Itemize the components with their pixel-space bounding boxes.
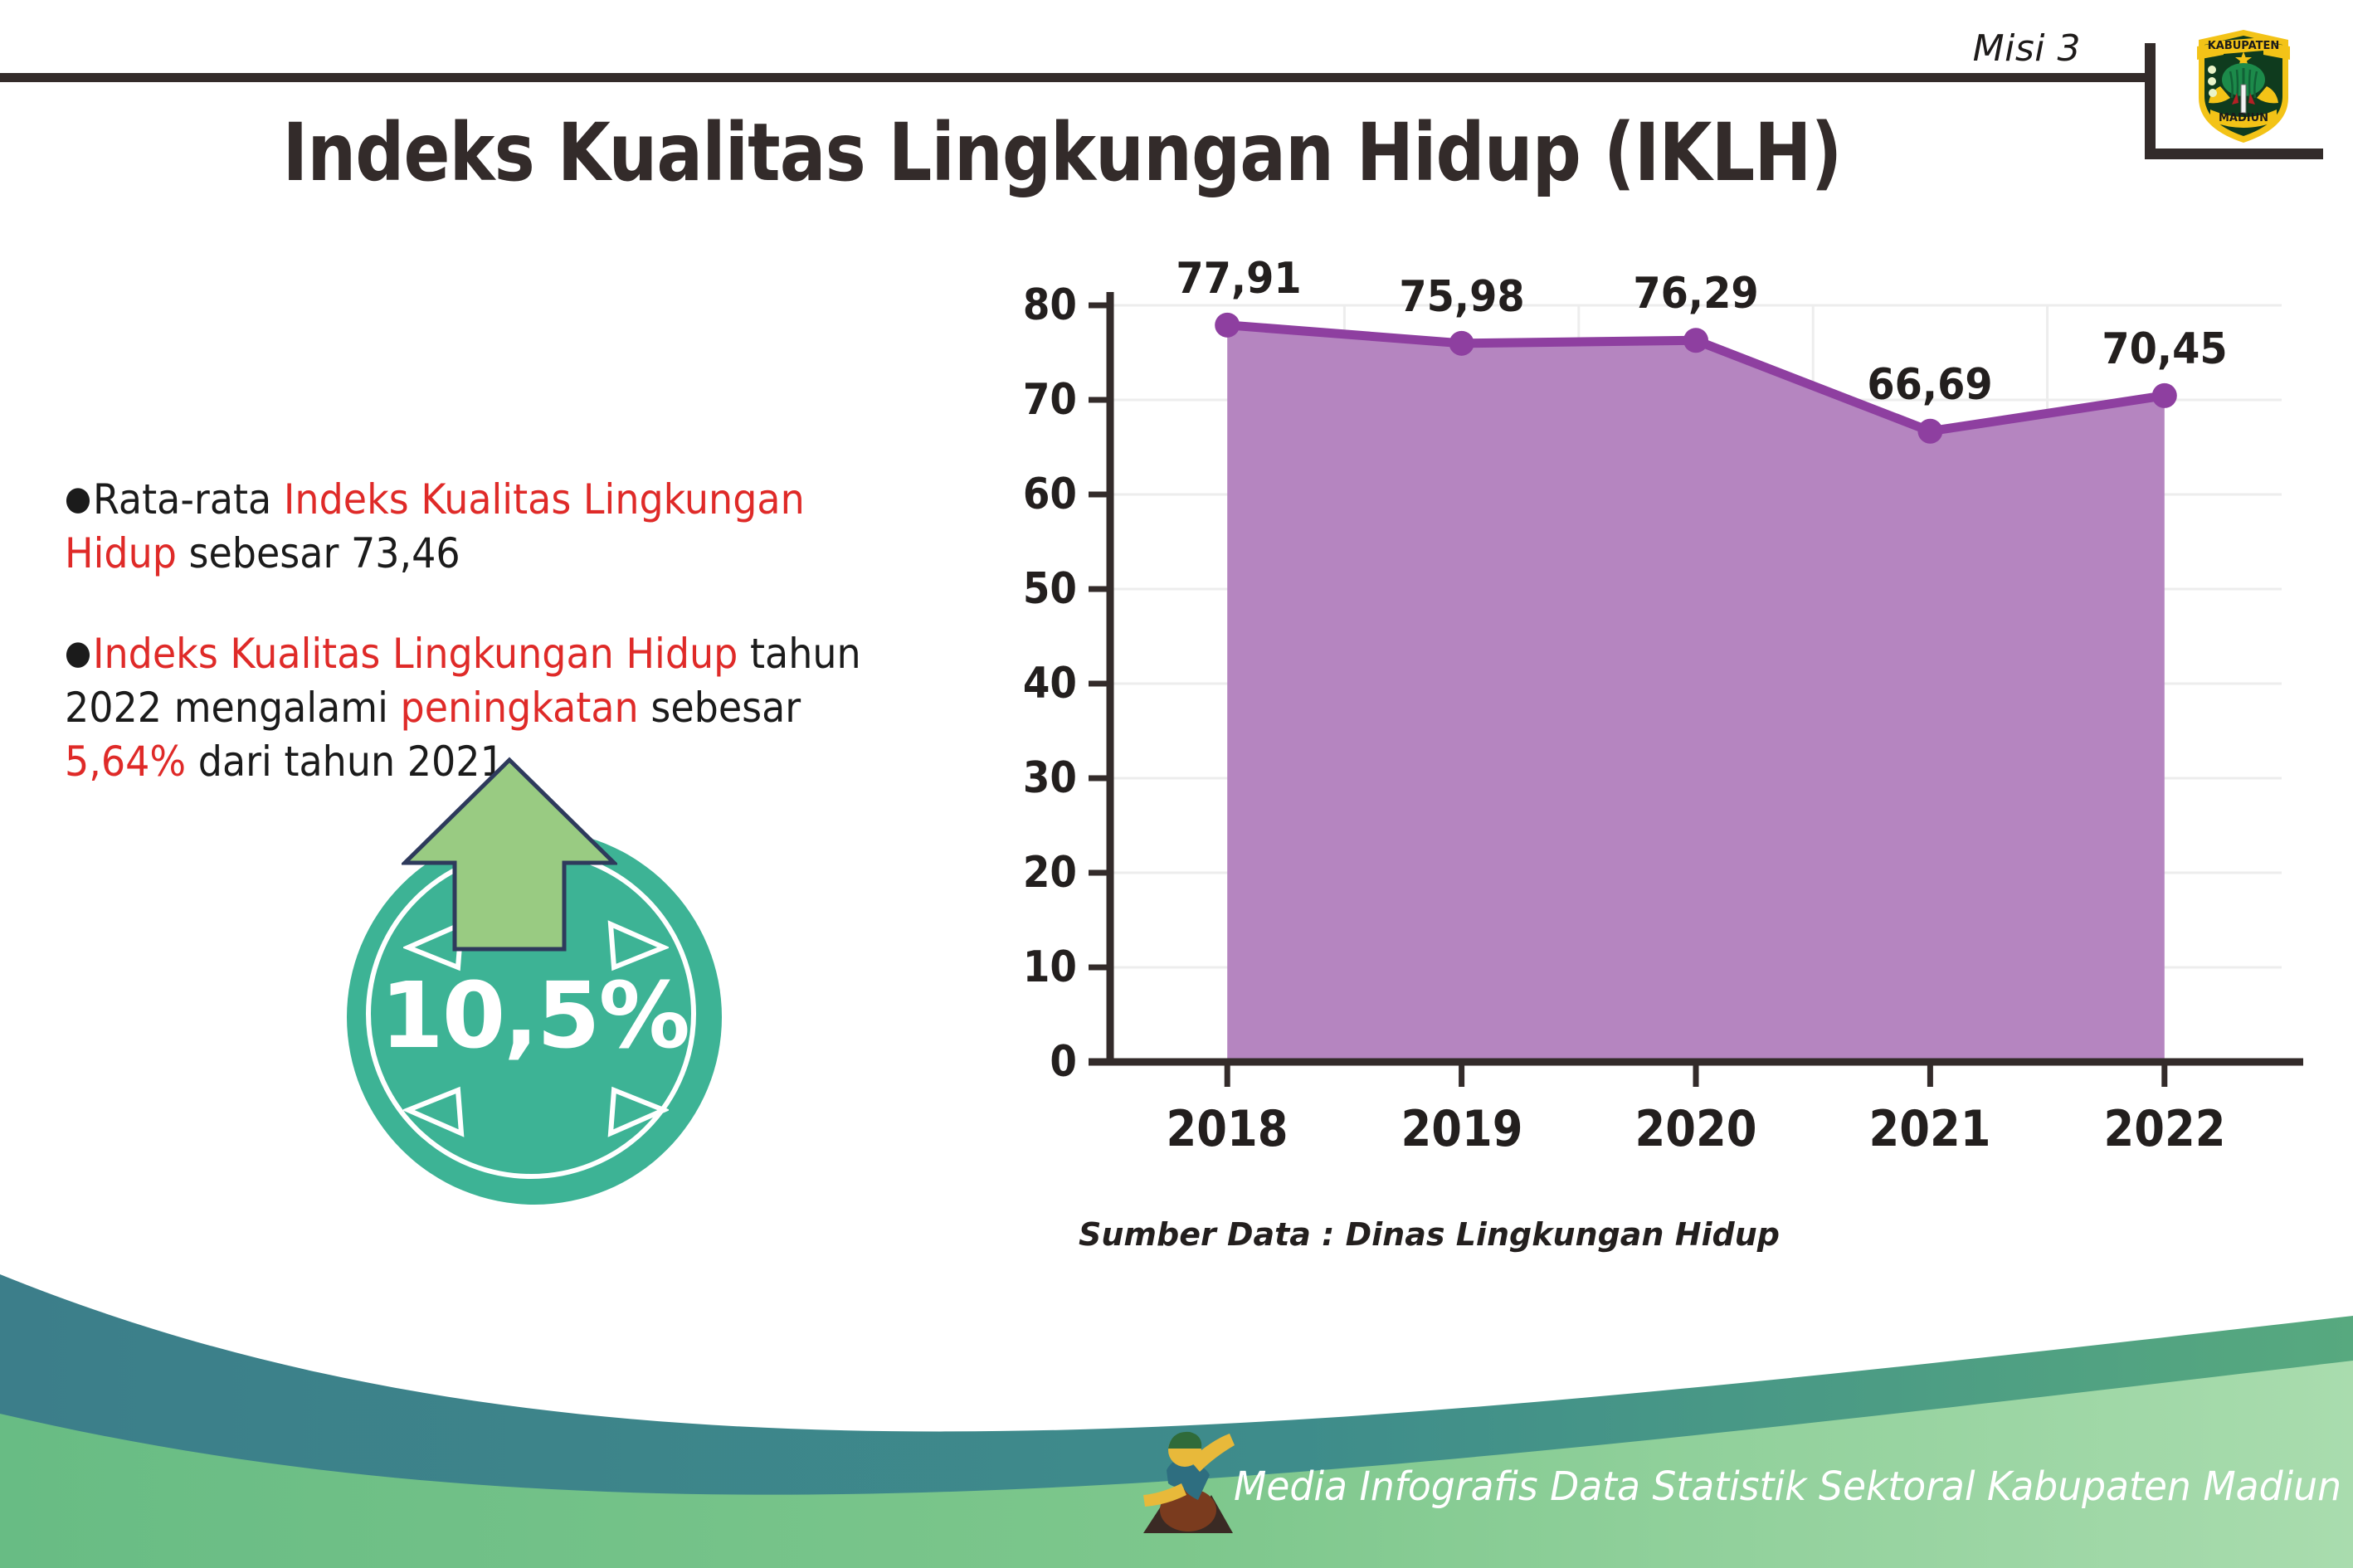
kabupaten-madiun-logo-icon: KABUPATEN MADIUN <box>2190 22 2297 146</box>
y-axis-tick-label: 40 <box>957 659 1077 709</box>
y-axis-tick-label: 20 <box>957 848 1077 898</box>
highlight-text: peningkatan <box>401 684 639 732</box>
up-arrow-icon <box>402 757 617 956</box>
data-point-marker <box>1215 313 1240 338</box>
x-axis-tick-label: 2018 <box>1133 1100 1323 1158</box>
plain-text: Rata-rata <box>93 475 284 523</box>
bullet-dot-icon: ● <box>65 480 91 518</box>
y-axis-tick-label: 10 <box>957 942 1077 992</box>
plain-text: sebesar 73,46 <box>177 529 460 577</box>
svg-text:KABUPATEN: KABUPATEN <box>2208 40 2280 52</box>
chart-area-fill <box>1227 325 2165 1062</box>
x-axis-tick-label: 2022 <box>2069 1100 2259 1158</box>
data-value-label: 76,29 <box>1581 269 1810 319</box>
data-value-label: 70,45 <box>2050 324 2279 374</box>
y-axis-tick-label: 0 <box>957 1037 1077 1087</box>
data-value-label: 75,98 <box>1347 272 1576 322</box>
badge-tick-arrow-bottom-right <box>602 1080 669 1138</box>
footer-caption: Media Infografis Data Statistik Sektoral… <box>1234 1463 2353 1510</box>
header-divider-rule <box>0 73 2151 82</box>
y-axis-tick-label: 30 <box>957 753 1077 803</box>
page-title: Indeks Kualitas Lingkungan Hidup (IKLH) <box>149 106 1975 199</box>
bracket-horizontal-bar <box>2145 149 2323 159</box>
badge-value-text: 10,5% <box>347 962 722 1069</box>
highlight-text: 5,64% <box>65 738 186 786</box>
y-axis-tick-label: 60 <box>957 470 1077 519</box>
data-point-marker <box>2152 383 2177 408</box>
chart-plot-svg <box>979 290 2307 1170</box>
statistics-figure-icon <box>1138 1424 1238 1548</box>
svg-text:MADIUN: MADIUN <box>2219 112 2268 124</box>
growth-badge: 10,5% <box>330 757 745 1205</box>
data-point-marker <box>1917 419 1942 444</box>
data-point-marker <box>1683 328 1708 353</box>
y-axis-tick-label: 50 <box>957 564 1077 614</box>
bullet-text-average: Rata-rata Indeks Kualitas Lingkungan Hid… <box>65 475 805 577</box>
plain-text: sebesar <box>639 684 801 732</box>
data-value-label: 66,69 <box>1815 360 2044 410</box>
bullet-dot-icon: ● <box>65 634 91 672</box>
y-axis-tick-label: 80 <box>957 280 1077 330</box>
bracket-vertical-bar <box>2145 43 2156 159</box>
badge-tick-arrow-bottom-left <box>403 1080 470 1138</box>
iklh-area-chart: 01020304050607080 20182019202020212022 7… <box>979 290 2307 1170</box>
x-axis-tick-label: 2021 <box>1835 1100 2025 1158</box>
x-axis-tick-label: 2019 <box>1366 1100 1556 1158</box>
highlight-text: Indeks Kualitas Lingkungan Hidup <box>93 630 738 678</box>
y-axis-tick-label: 70 <box>957 375 1077 425</box>
data-value-label: 77,91 <box>1124 254 1353 304</box>
x-axis-tick-label: 2020 <box>1601 1100 1791 1158</box>
data-point-marker <box>1449 331 1474 356</box>
list-item: ●Rata-rata Indeks Kualitas Lingkungan Hi… <box>65 473 889 581</box>
mission-label: Misi 3 <box>1973 27 2081 70</box>
